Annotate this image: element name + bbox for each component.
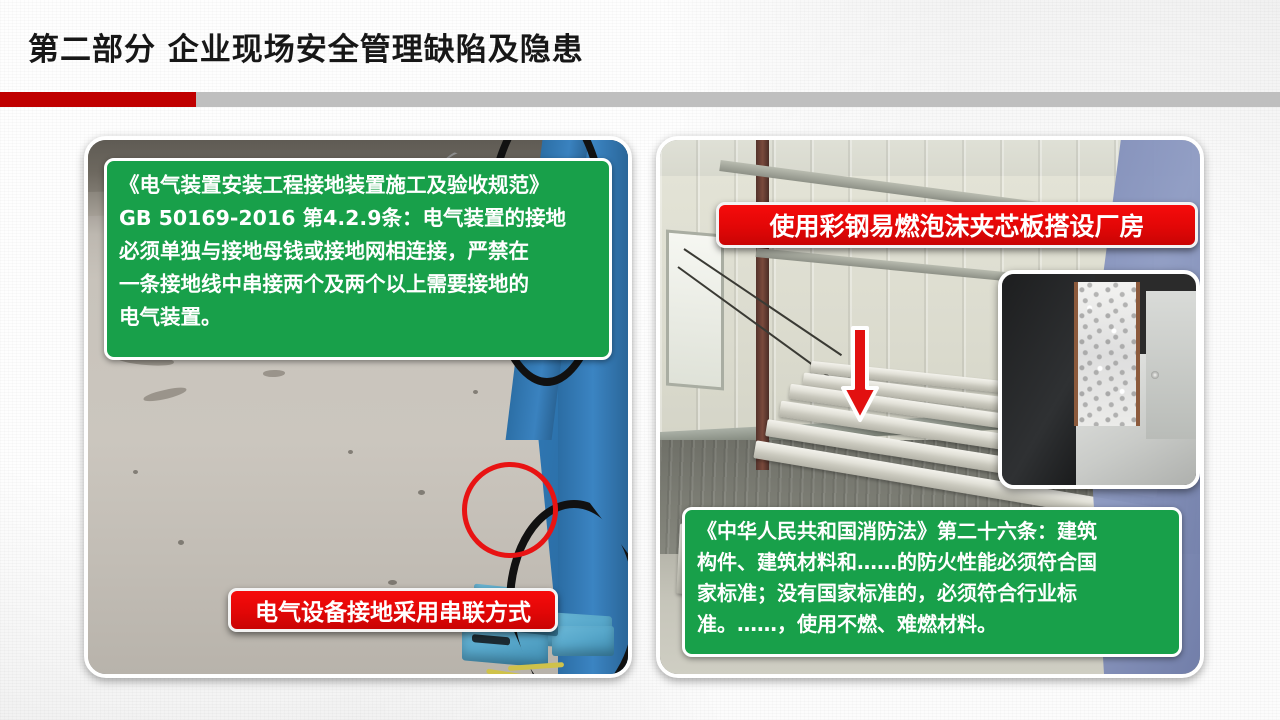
- floor-speck: [348, 450, 353, 454]
- floor-speck: [178, 540, 184, 545]
- regulation-line: 必须单独与接地母钱或接地网相连接，严禁在: [119, 235, 599, 268]
- base-slot: [472, 635, 510, 646]
- floor-speck: [388, 580, 397, 585]
- regulation-text-box-right: 《中华人民共和国消防法》第二十六条：建筑 构件、建筑材料和……的防火性能必须符合…: [682, 507, 1182, 657]
- floor-speck: [133, 470, 138, 474]
- regulation-line: 准。……，使用不燃、难燃材料。: [697, 609, 1169, 640]
- inset-metal-edge: [1146, 291, 1196, 439]
- regulation-line: 一条接地线中串接两个及两个以上需要接地的: [119, 268, 599, 301]
- regulation-line: 家标准；没有国家标准的，必须符合行业标: [697, 578, 1169, 609]
- arrow-down-icon: [840, 326, 880, 424]
- floor-speck: [418, 490, 425, 495]
- inset-closeup-photo[interactable]: [998, 270, 1200, 489]
- regulation-line: GB 50169-2016 第4.2.9条：电气装置的接地: [119, 202, 599, 235]
- floor-smudge: [143, 386, 188, 404]
- slide-canvas: 第二部分 企业现场安全管理缺陷及隐患: [0, 0, 1280, 720]
- floor-smudge: [263, 370, 285, 377]
- right-photo-card[interactable]: 使用彩钢易燃泡沫夹芯板搭设厂房 《中华人民共和国消防法》第二十六条：建筑 构件、…: [656, 136, 1204, 678]
- regulation-line: 电气装置。: [119, 301, 599, 334]
- regulation-line: 构件、建筑材料和……的防火性能必须符合国: [697, 547, 1169, 578]
- header-accent-bar-grey: [196, 92, 1280, 107]
- caption-banner-right: 使用彩钢易燃泡沫夹芯板搭设厂房: [716, 202, 1198, 248]
- floor-speck: [473, 390, 478, 394]
- caption-banner-left: 电气设备接地采用串联方式: [228, 588, 558, 632]
- regulation-text-box-left: 《电气装置安装工程接地装置施工及验收规范》 GB 50169-2016 第4.2…: [104, 158, 612, 360]
- regulation-line: 《电气装置安装工程接地装置施工及验收规范》: [119, 169, 599, 202]
- regulation-line: 《中华人民共和国消防法》第二十六条：建筑: [697, 516, 1169, 547]
- header-accent-bar-red: [0, 92, 196, 107]
- warehouse-window: [666, 229, 724, 390]
- inset-foam-core: [1074, 282, 1140, 425]
- annotation-circle-icon: [462, 462, 558, 558]
- page-title: 第二部分 企业现场安全管理缺陷及隐患: [28, 24, 584, 69]
- left-photo-card[interactable]: 《电气装置安装工程接地装置施工及验收规范》 GB 50169-2016 第4.2…: [84, 136, 632, 678]
